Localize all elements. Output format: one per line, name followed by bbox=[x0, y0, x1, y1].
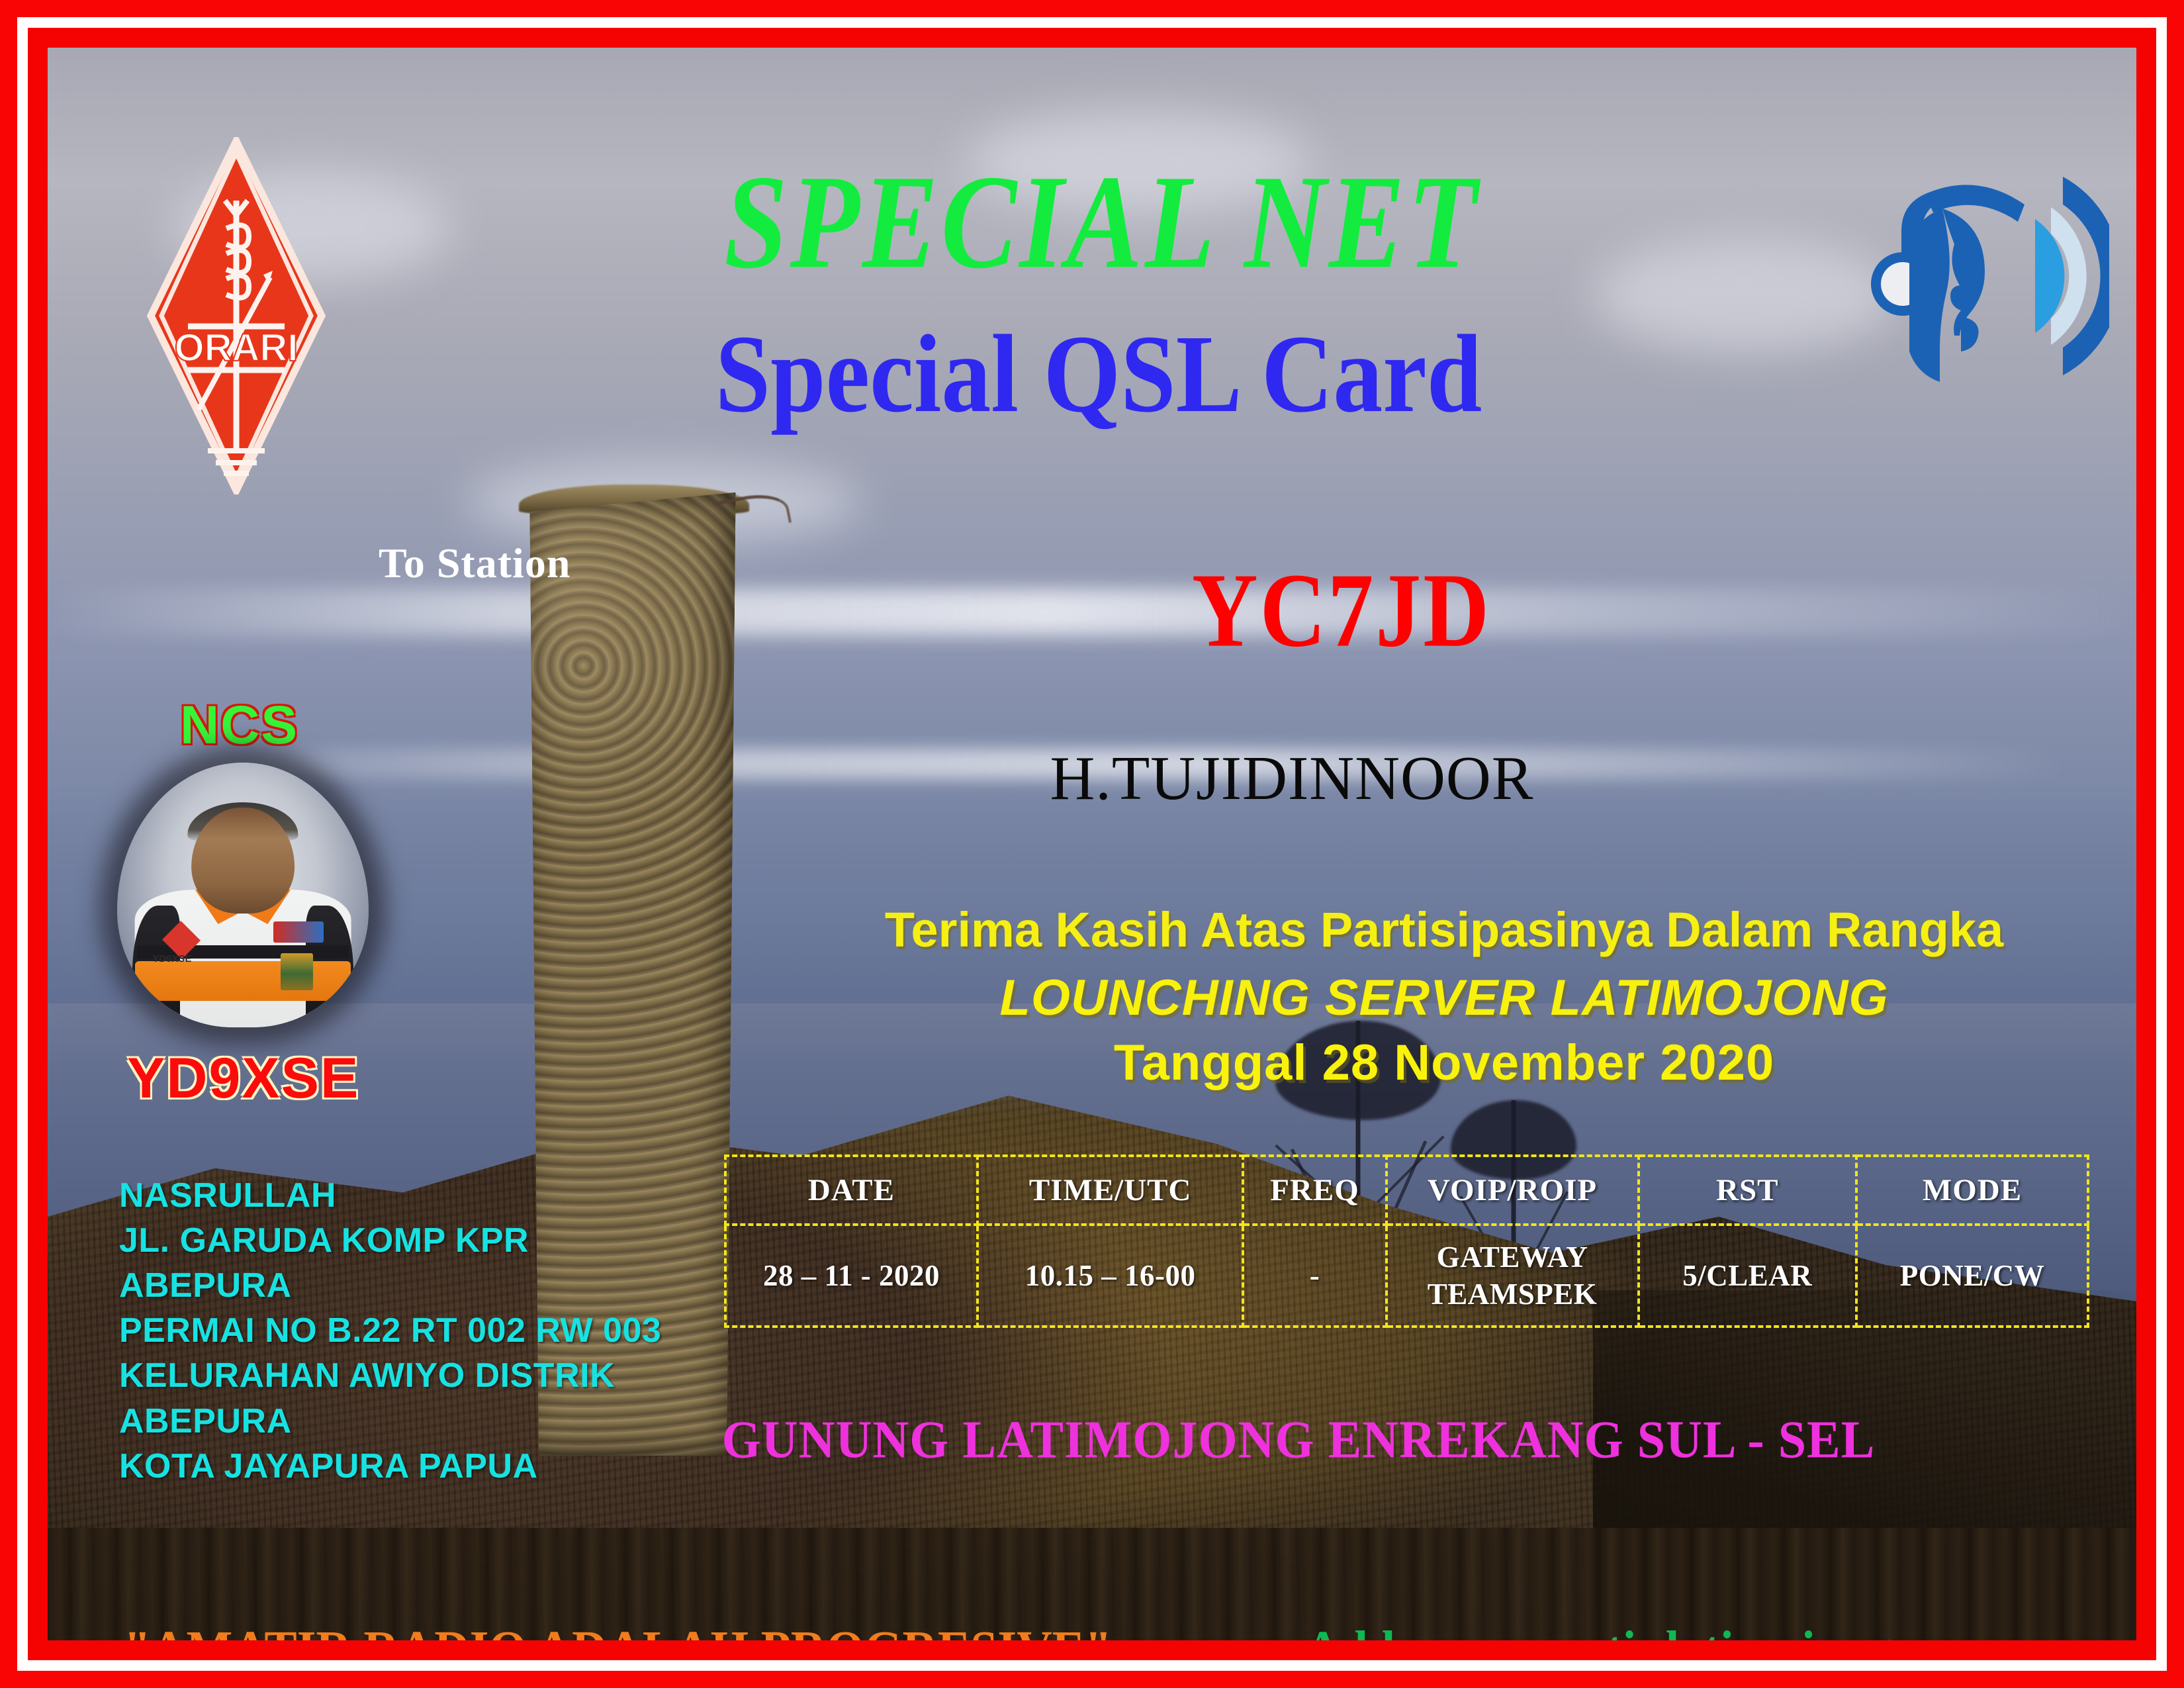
station-address-block: NASRULLAH JL. GARUDA KOMP KPR ABEPURA PE… bbox=[119, 1173, 661, 1489]
column-header-time: TIME/UTC bbox=[978, 1156, 1244, 1225]
cell-rst: 5/CLEAR bbox=[1639, 1225, 1856, 1327]
table-header-row: DATE TIME/UTC FREQ VOIP/ROIP RST MODE bbox=[725, 1156, 2088, 1225]
column-header-date: DATE bbox=[725, 1156, 978, 1225]
page-title: SPECIAL NET bbox=[48, 156, 2136, 290]
address-line: KOTA JAYAPURA PAPUA bbox=[119, 1444, 661, 1489]
address-line: NASRULLAH bbox=[119, 1173, 661, 1218]
address-line: KELURAHAN AWIYO DISTRIK bbox=[119, 1353, 661, 1398]
address-line: PERMAI NO B.22 RT 002 RW 003 bbox=[119, 1308, 661, 1353]
ncs-role-label: NCS bbox=[180, 694, 298, 757]
cell-mode: PONE/CW bbox=[1856, 1225, 2088, 1327]
table-row: 28 – 11 - 2020 10.15 – 16-00 - GATEWAY T… bbox=[725, 1225, 2088, 1327]
column-header-freq: FREQ bbox=[1243, 1156, 1386, 1225]
event-name: LOUNCHING SERVER LATIMOJONG bbox=[815, 969, 2073, 1027]
ncs-operator-photo: YD9XSE bbox=[117, 763, 369, 1027]
address-line: ABEPURA bbox=[119, 1263, 661, 1308]
page-subtitle: Special QSL Card bbox=[48, 318, 2136, 430]
column-header-rst: RST bbox=[1639, 1156, 1856, 1225]
event-date: Tanggal 28 November 2020 bbox=[815, 1034, 2073, 1092]
qsl-card-outer-frame: ORARI SPECIAL NET bbox=[0, 0, 2184, 1688]
operator-name: H.TUJIDINNOOR bbox=[954, 743, 1629, 814]
ncs-callsign: YD9XSE bbox=[127, 1046, 359, 1111]
cell-voip-line1: GATEWAY bbox=[1437, 1241, 1588, 1274]
to-station-label: To Station bbox=[379, 539, 570, 588]
location-label: GUNUNG LATIMOJONG ENREKANG SUL - SEL bbox=[683, 1409, 1914, 1470]
cell-voip: GATEWAY TEAMSPEK bbox=[1387, 1225, 1639, 1327]
cell-time: 10.15 – 16-00 bbox=[978, 1225, 1244, 1327]
cell-date: 28 – 11 - 2020 bbox=[725, 1225, 978, 1327]
thanks-message: Terima Kasih Atas Partisipasinya Dalam R… bbox=[815, 902, 2073, 958]
background-photograph: ORARI SPECIAL NET bbox=[48, 48, 2136, 1640]
address-line: JL. GARUDA KOMP KPR bbox=[119, 1218, 661, 1263]
cell-freq: - bbox=[1243, 1225, 1386, 1327]
qso-log-table: DATE TIME/UTC FREQ VOIP/ROIP RST MODE 28… bbox=[724, 1154, 2089, 1328]
address-line: ABEPURA bbox=[119, 1399, 661, 1444]
cell-voip-line2: TEAMSPEK bbox=[1428, 1278, 1598, 1311]
motto-text: "AMATIR RADIO ADALAH PROGRESIVE" bbox=[124, 1620, 1112, 1640]
column-header-voip: VOIP/ROIP bbox=[1387, 1156, 1639, 1225]
address-url: Address : amatir.latimojong.com bbox=[1305, 1620, 1991, 1640]
column-header-mode: MODE bbox=[1856, 1156, 2088, 1225]
shirt-callsign-text: YD9XSE bbox=[152, 953, 191, 964]
station-callsign: YC7JD bbox=[1057, 549, 1626, 671]
